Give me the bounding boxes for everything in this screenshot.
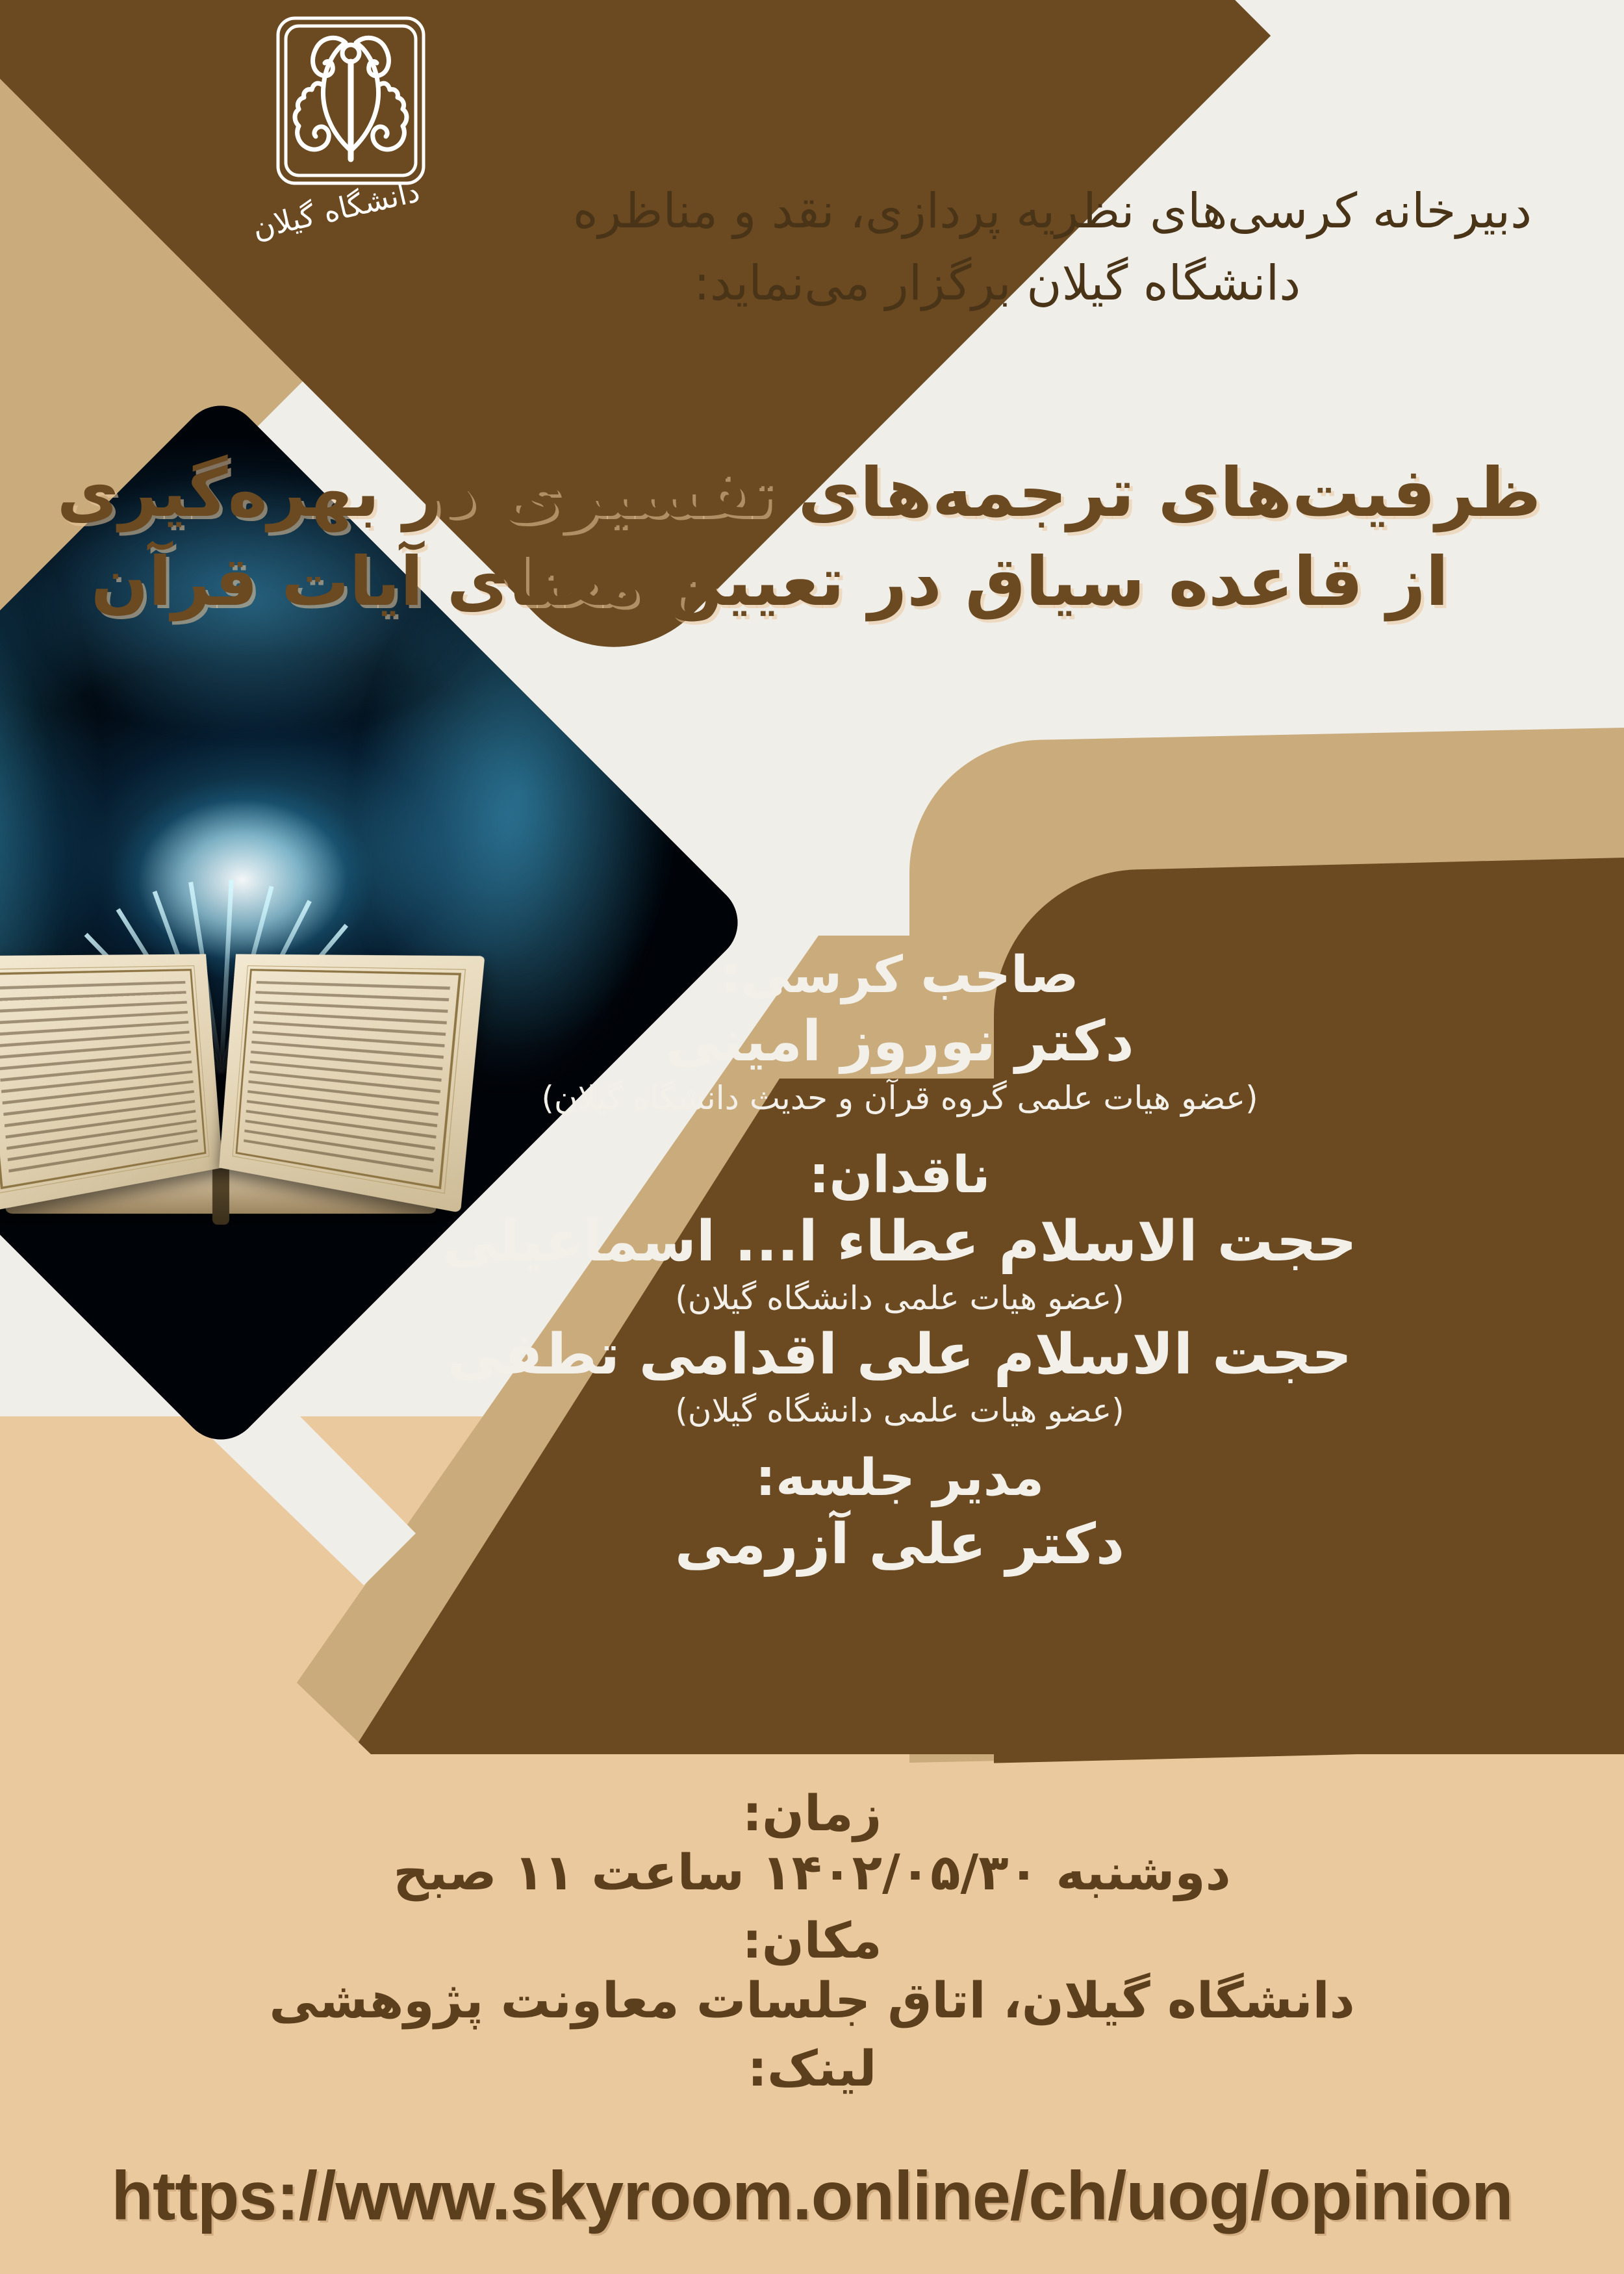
place-value: دانشگاه گیلان، اتاق جلسات معاونت پژوهشی — [0, 1971, 1624, 2030]
critic-2-affiliation: (عضو هیات علمی دانشگاه گیلان) — [234, 1390, 1566, 1431]
critic-1-affiliation: (عضو هیات علمی دانشگاه گیلان) — [234, 1278, 1566, 1319]
university-logo: دانشگاه گیلان — [260, 13, 429, 266]
title-line-1: ظرفیت‌های ترجمه‌های تفسیری در بهره‌گیری — [52, 448, 1546, 537]
page-title: ظرفیت‌های ترجمه‌های تفسیری در بهره‌گیری … — [52, 448, 1546, 627]
time-value: دوشنبه ۱۴۰۲/۰۵/۳۰ ساعت ۱۱ صبح — [0, 1843, 1624, 1902]
critics-label: ناقدان: — [234, 1145, 1566, 1205]
critic-2-name: حجت الاسلام علی اقدامی تطفی — [234, 1322, 1566, 1388]
time-label: زمان: — [0, 1783, 1624, 1843]
session-manager-name: دکتر علی آزرمی — [234, 1512, 1566, 1578]
participants-section: صاحب کرسی: دکتر نوروز امینی (عضو هیات عل… — [234, 945, 1566, 1578]
session-manager-label: مدیر جلسه: — [234, 1448, 1566, 1508]
university-emblem-icon — [273, 13, 429, 188]
chair-holder-name: دکتر نوروز امینی — [234, 1009, 1566, 1075]
chair-holder-label: صاحب کرسی: — [234, 945, 1566, 1005]
place-label: مکان: — [0, 1911, 1624, 1970]
header-line-2: دانشگاه گیلان برگزار می‌نماید: — [565, 248, 1540, 320]
event-details-section: زمان: دوشنبه ۱۴۰۲/۰۵/۳۰ ساعت ۱۱ صبح مکان… — [0, 1783, 1624, 2098]
chair-holder-affiliation: (عضو هیات علمی گروه قرآن و حدیث دانشگاه … — [234, 1078, 1566, 1119]
critic-1-name: حجت الاسلام عطاء ا... اسماعیلی — [234, 1209, 1566, 1275]
link-label: لینک: — [0, 2039, 1624, 2098]
meeting-link[interactable]: https://www.skyroom.online/ch/uog/opinio… — [0, 2157, 1624, 2236]
page-text-lines — [0, 981, 198, 1174]
header-line-1: دبیرخانه کرسی‌های نظریه پردازی، نقد و من… — [565, 175, 1540, 248]
header-text: دبیرخانه کرسی‌های نظریه پردازی، نقد و من… — [565, 175, 1540, 320]
title-line-2: از قاعده سیاق در تعیین معنای آیات قرآن — [52, 537, 1546, 626]
event-poster: دانشگاه گیلان دبیرخانه کرسی‌های نظریه پر… — [0, 0, 1624, 2274]
